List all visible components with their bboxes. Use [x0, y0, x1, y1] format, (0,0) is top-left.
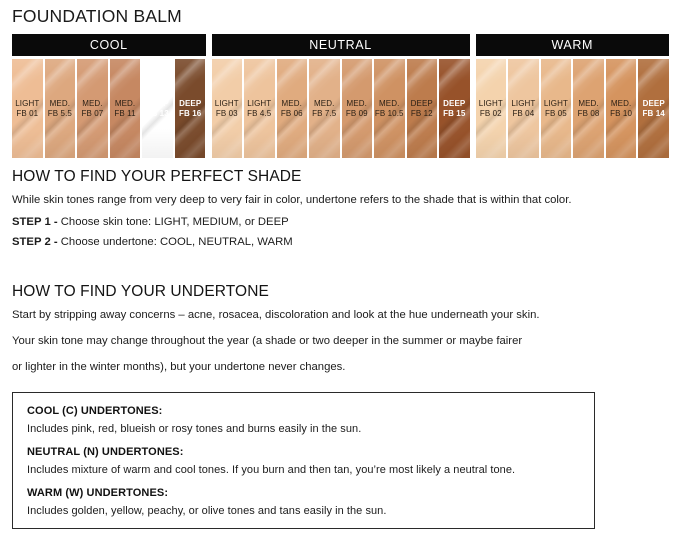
swatch-code: FB 4.5 — [247, 109, 271, 118]
group-banner-neutral: NEUTRAL — [212, 34, 470, 56]
shade-group-neutral: NEUTRALLIGHTFB 03LIGHTFB 4.5MED.FB 06MED… — [212, 34, 470, 158]
shade-swatch-fb-03[interactable]: LIGHTFB 03 — [212, 59, 243, 158]
shade-group-warm: WARMLIGHTFB 02LIGHTFB 04LIGHTFB 05MED.FB… — [476, 34, 670, 158]
step-2-label: STEP 2 - — [12, 236, 58, 248]
swatch-label: DEEPFB 15 — [443, 99, 465, 118]
swatch-code: FB 07 — [82, 109, 104, 118]
perfect-shade-section: HOW TO FIND YOUR PERFECT SHADE While ski… — [12, 168, 667, 256]
shade-swatch-fb-12[interactable]: DEEPFB 12 — [407, 59, 438, 158]
shade-chart: COOLLIGHTFB 01MED.FB 5.5MED.FB 07MED.FB … — [12, 34, 669, 158]
undertone-line-1: Start by stripping away concerns – acne,… — [12, 308, 667, 323]
undertone-section: HOW TO FIND YOUR UNDERTONE Start by stri… — [12, 283, 667, 386]
shade-swatch-fb-05[interactable]: LIGHTFB 05 — [541, 59, 572, 158]
undertone-term: COOL (C) UNDERTONES: — [27, 405, 580, 417]
shade-group-cool: COOLLIGHTFB 01MED.FB 5.5MED.FB 07MED.FB … — [12, 34, 206, 158]
undertone-definition: Includes pink, red, blueish or rosy tone… — [27, 423, 580, 435]
swatch-label: MED.FB 06 — [281, 99, 303, 118]
swatch-label: MED.FB 07 — [82, 99, 104, 118]
undertone-definition: Includes golden, yellow, peachy, or oliv… — [27, 505, 580, 517]
undertone-line-3: or lighter in the winter months), but yo… — [12, 360, 667, 375]
step-2-line: STEP 2 - Choose undertone: COOL, NEUTRAL… — [12, 236, 667, 248]
undertone-term: NEUTRAL (N) UNDERTONES: — [27, 446, 580, 458]
shade-swatch-fb-14[interactable]: DEEPFB 14 — [638, 59, 669, 158]
swatch-label: MED.FB 7.5 — [312, 99, 336, 118]
swatch-label: MED.FB 5.5 — [48, 99, 72, 118]
swatch-tone: MED. — [375, 99, 404, 108]
swatch-tone: MED. — [281, 99, 303, 108]
swatch-code: FB 11 — [114, 109, 135, 118]
shade-swatch-fb-4-5[interactable]: LIGHTFB 4.5 — [244, 59, 275, 158]
group-banner-warm: WARM — [476, 34, 670, 56]
swatch-tone: LIGHT — [511, 99, 535, 108]
swatch-label: MED.FB 11 — [114, 99, 135, 118]
step-2-text: Choose undertone: COOL, NEUTRAL, WARM — [58, 236, 293, 248]
swatch-row: LIGHTFB 03LIGHTFB 4.5MED.FB 06MED.FB 7.5… — [212, 56, 470, 158]
swatch-label: DEEPFB 12 — [411, 99, 433, 118]
shade-swatch-fb-11[interactable]: MED.FB 11 — [110, 59, 141, 158]
swatch-tone: DEEP — [146, 99, 168, 108]
swatch-code: FB 08 — [578, 109, 600, 118]
swatch-code: FB 12 — [411, 109, 433, 118]
group-banner-cool: COOL — [12, 34, 206, 56]
swatch-code: FB 01 — [15, 109, 39, 118]
shade-swatch-fb-10[interactable]: MED.FB 10 — [606, 59, 637, 158]
swatch-row: LIGHTFB 01MED.FB 5.5MED.FB 07MED.FB 11DE… — [12, 56, 206, 158]
swatch-tone: LIGHT — [15, 99, 39, 108]
perfect-shade-intro: While skin tones range from very deep to… — [12, 193, 667, 208]
swatch-tone: DEEP — [411, 99, 433, 108]
swatch-code: FB 10.5 — [375, 109, 404, 118]
undertone-heading: HOW TO FIND YOUR UNDERTONE — [12, 283, 667, 301]
swatch-tone: MED. — [82, 99, 104, 108]
step-1-text: Choose skin tone: LIGHT, MEDIUM, or DEEP — [58, 216, 289, 228]
swatch-code: FB 04 — [511, 109, 535, 118]
undertone-definition-box: COOL (C) UNDERTONES:Includes pink, red, … — [12, 392, 595, 529]
swatch-tone: LIGHT — [544, 99, 568, 108]
undertone-line-2: Your skin tone may change throughout the… — [12, 334, 667, 349]
swatch-label: MED.FB 09 — [346, 99, 368, 118]
swatch-label: LIGHTFB 02 — [479, 99, 503, 118]
swatch-label: LIGHTFB 01 — [15, 99, 39, 118]
swatch-label: MED.FB 10 — [610, 99, 632, 118]
swatch-row: LIGHTFB 02LIGHTFB 04LIGHTFB 05MED.FB 08M… — [476, 56, 670, 158]
page-title: FOUNDATION BALM — [12, 6, 182, 27]
shade-swatch-fb-15[interactable]: DEEPFB 15 — [439, 59, 470, 158]
shade-swatch-fb-02[interactable]: LIGHTFB 02 — [476, 59, 507, 158]
shade-swatch-fb-5-5[interactable]: MED.FB 5.5 — [45, 59, 76, 158]
swatch-code: FB 13 — [146, 109, 168, 118]
swatch-tone: DEEP — [179, 99, 201, 108]
shade-swatch-fb-7-5[interactable]: MED.FB 7.5 — [309, 59, 340, 158]
step-1-line: STEP 1 - Choose skin tone: LIGHT, MEDIUM… — [12, 216, 667, 228]
perfect-shade-heading: HOW TO FIND YOUR PERFECT SHADE — [12, 168, 667, 186]
swatch-label: LIGHTFB 05 — [544, 99, 568, 118]
swatch-tone: DEEP — [443, 99, 465, 108]
swatch-tone: LIGHT — [215, 99, 239, 108]
swatch-label: DEEPFB 16 — [179, 99, 201, 118]
swatch-code: FB 7.5 — [312, 109, 336, 118]
swatch-tone: MED. — [312, 99, 336, 108]
swatch-tone: MED. — [610, 99, 632, 108]
swatch-code: FB 05 — [544, 109, 568, 118]
swatch-label: DEEPFB 14 — [643, 99, 665, 118]
shade-swatch-fb-07[interactable]: MED.FB 07 — [77, 59, 108, 158]
swatch-tone: DEEP — [643, 99, 665, 108]
shade-swatch-fb-08[interactable]: MED.FB 08 — [573, 59, 604, 158]
shade-swatch-fb-06[interactable]: MED.FB 06 — [277, 59, 308, 158]
undertone-definition: Includes mixture of warm and cool tones.… — [27, 464, 580, 476]
swatch-tone: MED. — [48, 99, 72, 108]
swatch-code: FB 16 — [179, 109, 201, 118]
swatch-code: FB 09 — [346, 109, 368, 118]
swatch-label: LIGHTFB 03 — [215, 99, 239, 118]
shade-swatch-fb-04[interactable]: LIGHTFB 04 — [508, 59, 539, 158]
swatch-tone: MED. — [114, 99, 135, 108]
swatch-code: FB 06 — [281, 109, 303, 118]
swatch-code: FB 15 — [443, 109, 465, 118]
shade-swatch-fb-01[interactable]: LIGHTFB 01 — [12, 59, 43, 158]
shade-swatch-fb-16[interactable]: DEEPFB 16 — [175, 59, 206, 158]
swatch-code: FB 5.5 — [48, 109, 72, 118]
shade-swatch-fb-09[interactable]: MED.FB 09 — [342, 59, 373, 158]
step-1-label: STEP 1 - — [12, 216, 58, 228]
swatch-code: FB 03 — [215, 109, 239, 118]
shade-swatch-fb-13[interactable]: DEEPFB 13 — [142, 59, 173, 158]
swatch-label: DEEPFB 13 — [146, 99, 168, 118]
swatch-tone: LIGHT — [247, 99, 271, 108]
undertone-term: WARM (W) UNDERTONES: — [27, 487, 580, 499]
swatch-label: MED.FB 10.5 — [375, 99, 404, 118]
swatch-label: LIGHTFB 4.5 — [247, 99, 271, 118]
swatch-tone: LIGHT — [479, 99, 503, 108]
swatch-label: MED.FB 08 — [578, 99, 600, 118]
swatch-tone: MED. — [346, 99, 368, 108]
swatch-code: FB 02 — [479, 109, 503, 118]
swatch-tone: MED. — [578, 99, 600, 108]
shade-swatch-fb-10-5[interactable]: MED.FB 10.5 — [374, 59, 405, 158]
swatch-code: FB 10 — [610, 109, 632, 118]
swatch-label: LIGHTFB 04 — [511, 99, 535, 118]
swatch-code: FB 14 — [643, 109, 665, 118]
